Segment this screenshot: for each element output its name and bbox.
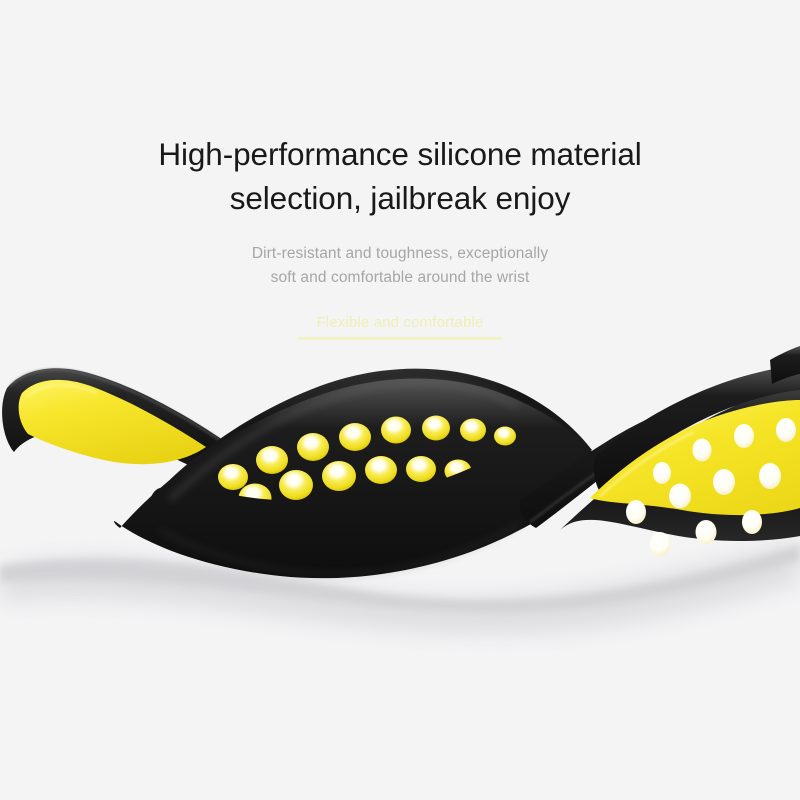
- band-right-segment: [560, 364, 800, 556]
- marketing-copy-block: High-performance silicone material selec…: [0, 132, 800, 340]
- page-title: High-performance silicone material selec…: [0, 132, 800, 220]
- page-subtitle: Dirt-resistant and toughness, exceptiona…: [0, 242, 800, 290]
- product-banner: High-performance silicone material selec…: [0, 0, 800, 800]
- band-middle-segment: [114, 369, 604, 579]
- product-image: [0, 330, 800, 680]
